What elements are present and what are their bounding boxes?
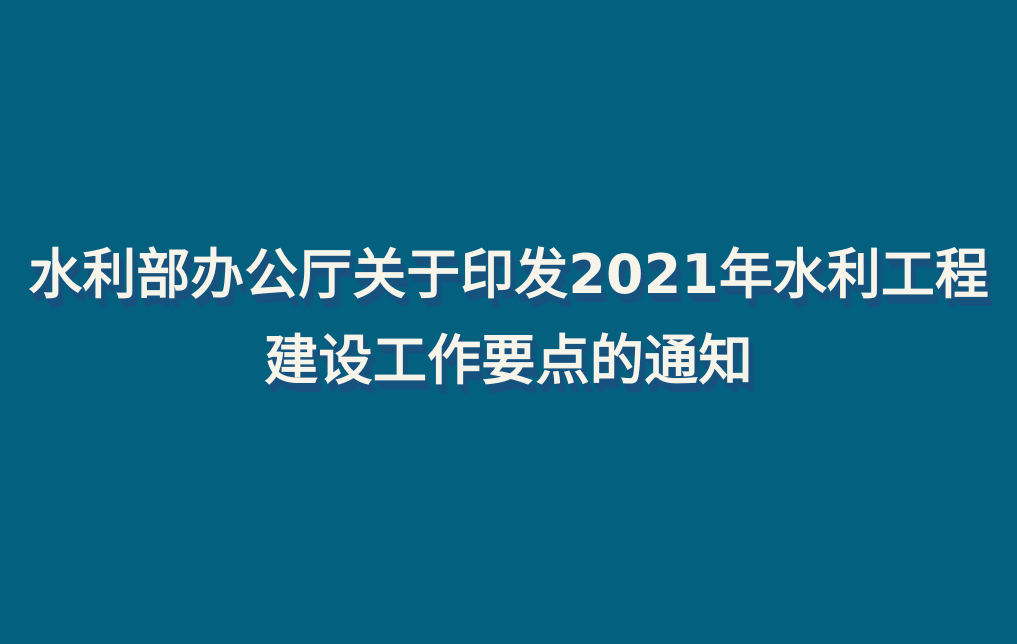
title-line-1: 水利部办公厅关于印发2021年水利工程 <box>28 247 989 303</box>
poster-canvas: 水利部办公厅关于印发2021年水利工程 建设工作要点的通知 <box>0 0 1017 644</box>
title-line-2: 建设工作要点的通知 <box>264 333 752 389</box>
title-block: 水利部办公厅关于印发2021年水利工程 建设工作要点的通知 <box>0 247 1017 389</box>
